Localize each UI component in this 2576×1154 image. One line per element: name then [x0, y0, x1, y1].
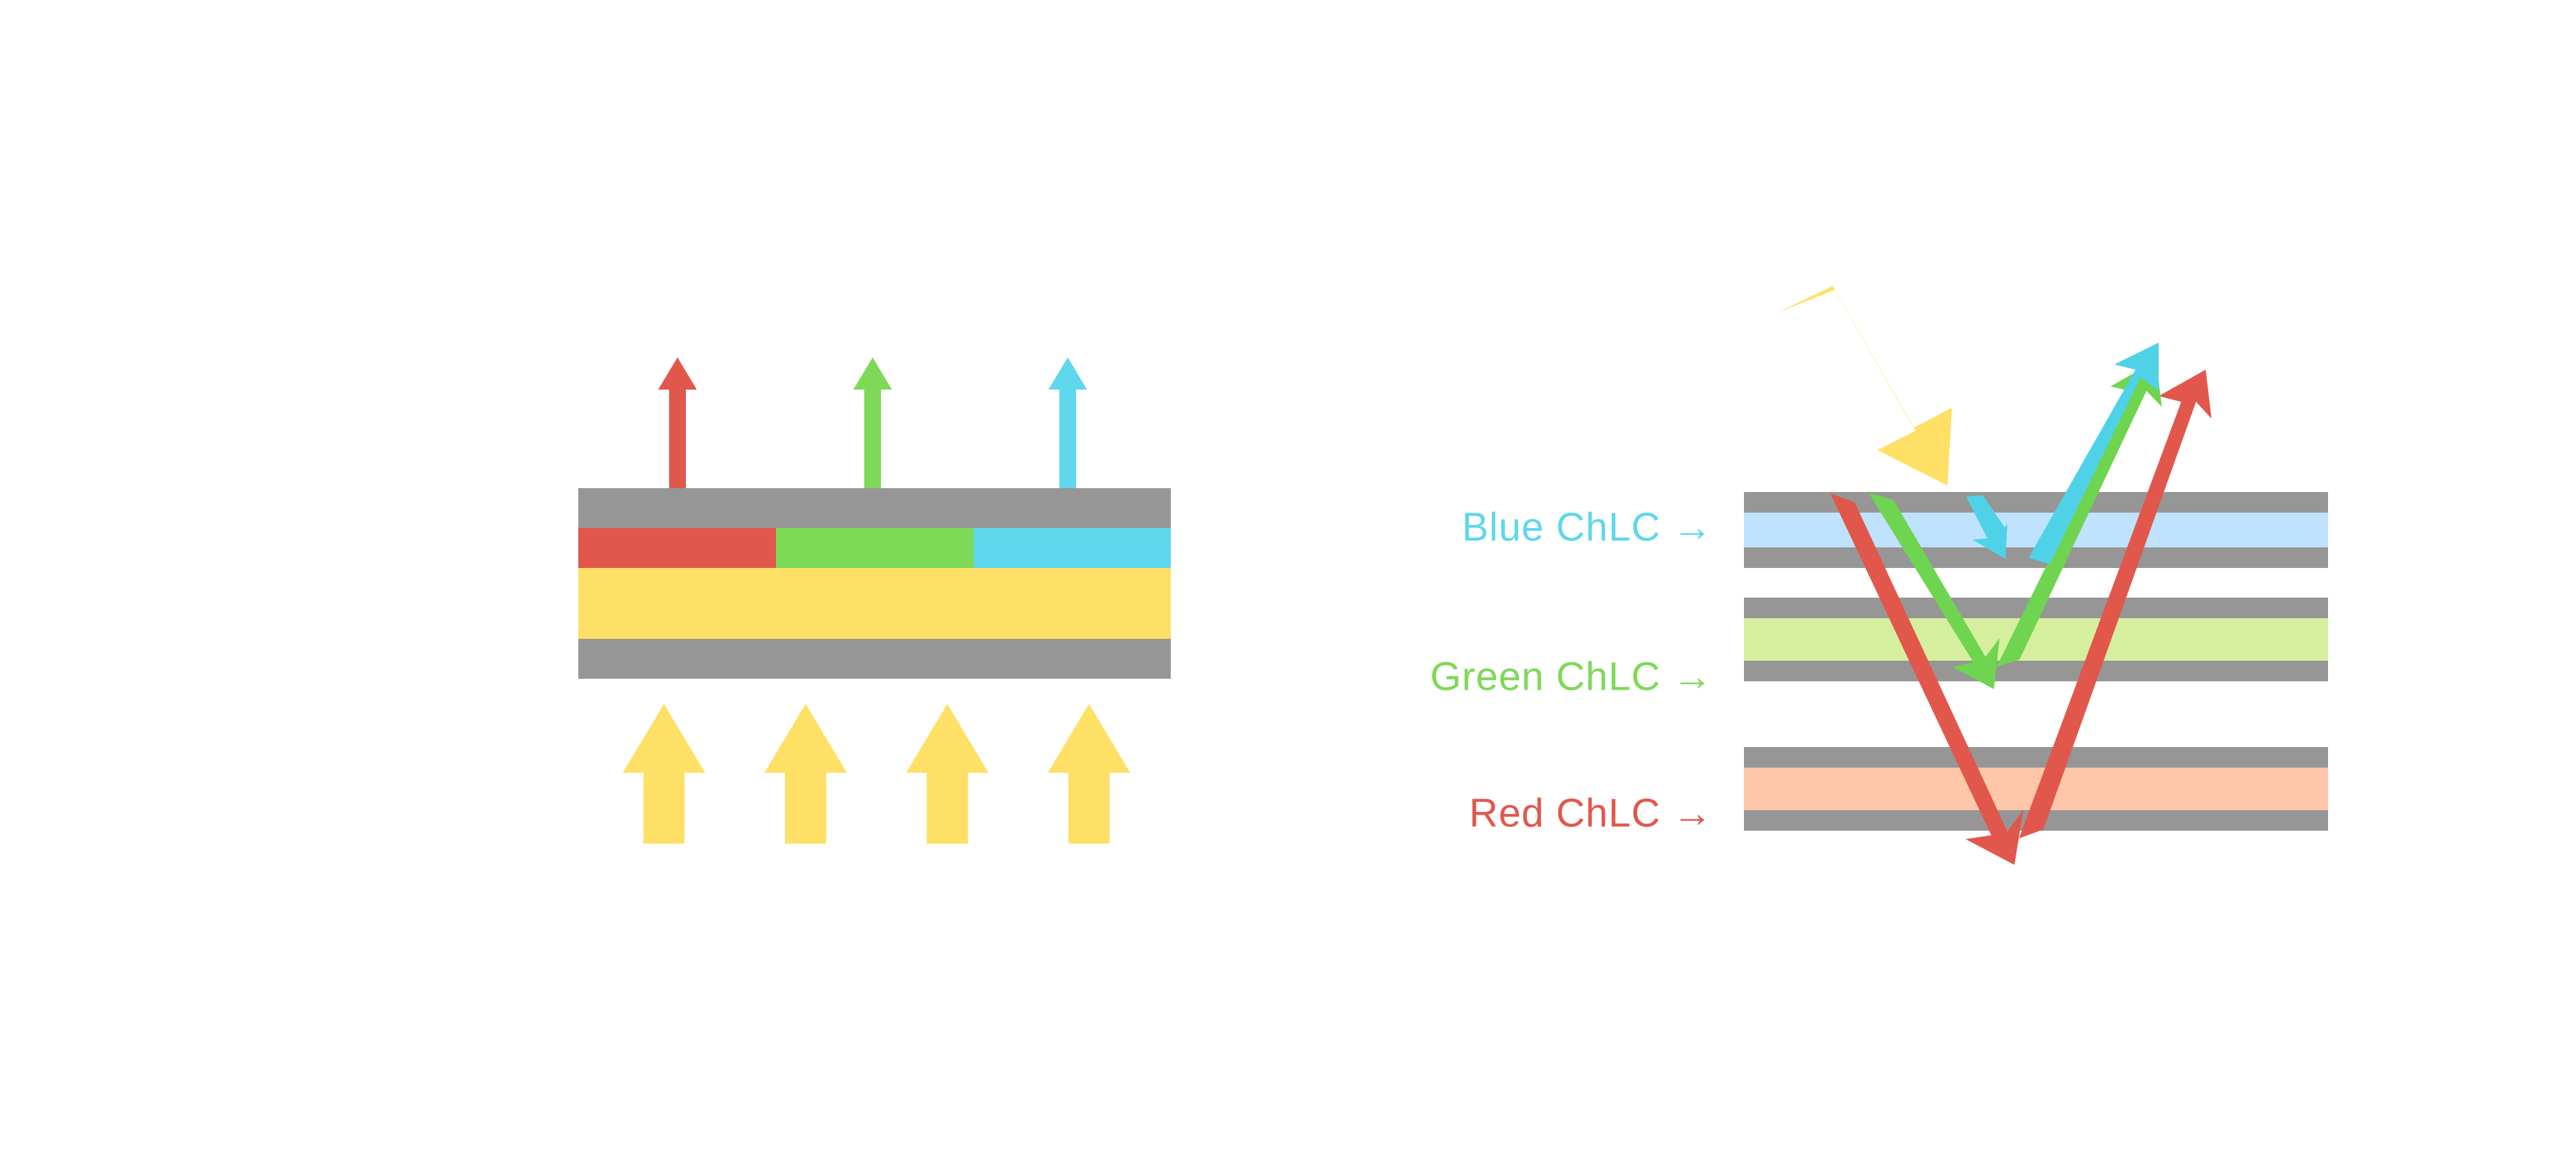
left-panel: [578, 357, 1171, 844]
left-display-stack: [578, 488, 1171, 679]
emitted-light-arrow-group: [658, 357, 1087, 496]
red-subpixel: [578, 528, 776, 568]
emitted-green-arrow: [853, 357, 892, 496]
cell-blue-label: Blue ChLC →: [1462, 505, 1713, 549]
top-electrode: [578, 488, 1171, 528]
right-panel: Blue ChLC → Green ChLC → Red ChLC →: [1430, 286, 2328, 865]
backlight-arrow-2: [764, 704, 847, 844]
backlight-arrow-3: [906, 704, 989, 844]
bottom-electrode: [578, 639, 1171, 679]
cell-green-label: Green ChLC →: [1430, 654, 1713, 699]
cell-green-bottom-electrode: [1744, 661, 2328, 681]
diagram-canvas: Blue ChLC → Green ChLC → Red ChLC →: [0, 0, 2576, 1154]
green-subpixel: [776, 528, 974, 568]
ambient-light-arrow: [1777, 286, 1952, 486]
emitted-red-arrow: [658, 357, 697, 496]
emitted-blue-arrow: [1048, 357, 1087, 496]
backlight-arrow-1: [623, 704, 705, 844]
backlight-arrow-4: [1048, 704, 1130, 844]
blue-subpixel: [974, 528, 1171, 568]
backlight-layer: [578, 568, 1171, 639]
cell-blue-layer: [1744, 513, 2328, 547]
cell-red-label: Red ChLC →: [1469, 791, 1713, 835]
cell-red-top-electrode: [1744, 747, 2328, 768]
cell-label-group: Blue ChLC → Green ChLC → Red ChLC →: [1430, 505, 1713, 835]
figure-root: Blue ChLC → Green ChLC → Red ChLC →: [0, 0, 2576, 1154]
backlight-arrow-group: [623, 704, 1130, 844]
